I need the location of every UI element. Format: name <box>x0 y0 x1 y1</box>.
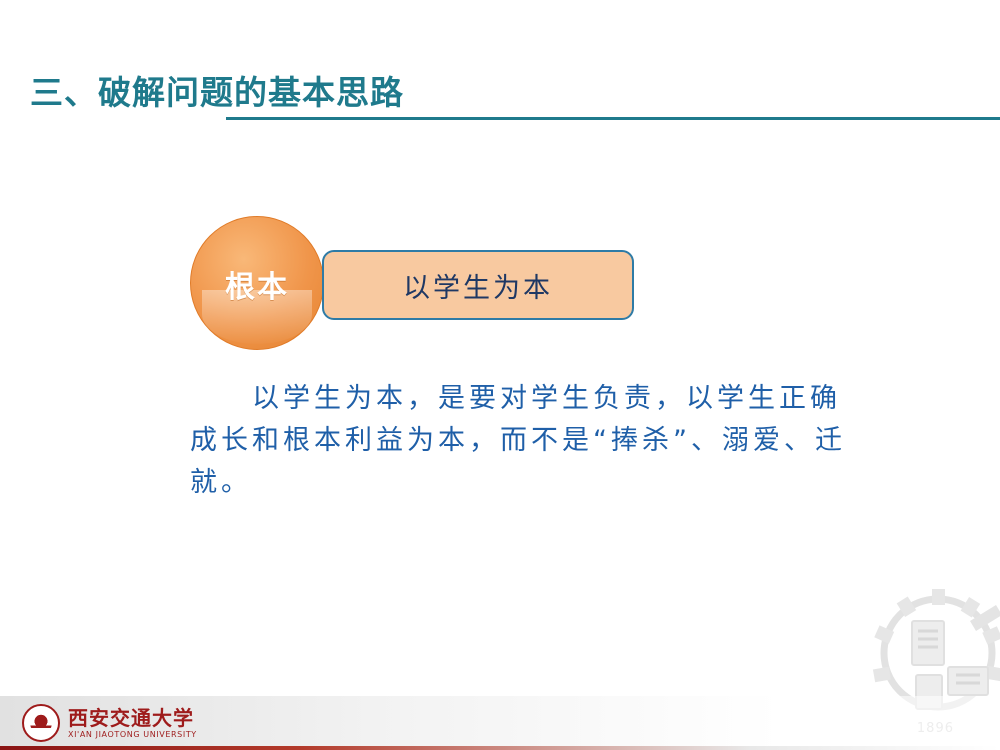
slide-canvas: 三、破解问题的基本思路 根本 以学生为本 以学生为本，是要对学生负责，以学生正确… <box>0 0 1000 750</box>
page-title: 三、破解问题的基本思路 <box>30 72 404 114</box>
root-circle: 根本 <box>190 216 326 352</box>
circle-label: 根本 <box>190 262 324 306</box>
title-underline <box>226 117 1000 120</box>
title-block: 三、破解问题的基本思路 <box>30 72 1000 132</box>
university-seal-icon <box>22 704 60 742</box>
university-name-en: XI'AN JIAOTONG UNIVERSITY <box>68 731 197 740</box>
student-centered-bar: 以学生为本 <box>322 250 634 320</box>
footer-rule <box>0 746 1000 750</box>
university-name-cn: 西安交通大学 <box>68 707 197 729</box>
university-logo: 西安交通大学 XI'AN JIAOTONG UNIVERSITY <box>22 704 197 742</box>
body-paragraph: 以学生为本，是要对学生负责，以学生正确成长和根本利益为本，而不是“捧杀”、溺爱、… <box>190 378 870 504</box>
bar-label: 以学生为本 <box>403 266 553 305</box>
university-name-block: 西安交通大学 XI'AN JIAOTONG UNIVERSITY <box>68 707 197 740</box>
